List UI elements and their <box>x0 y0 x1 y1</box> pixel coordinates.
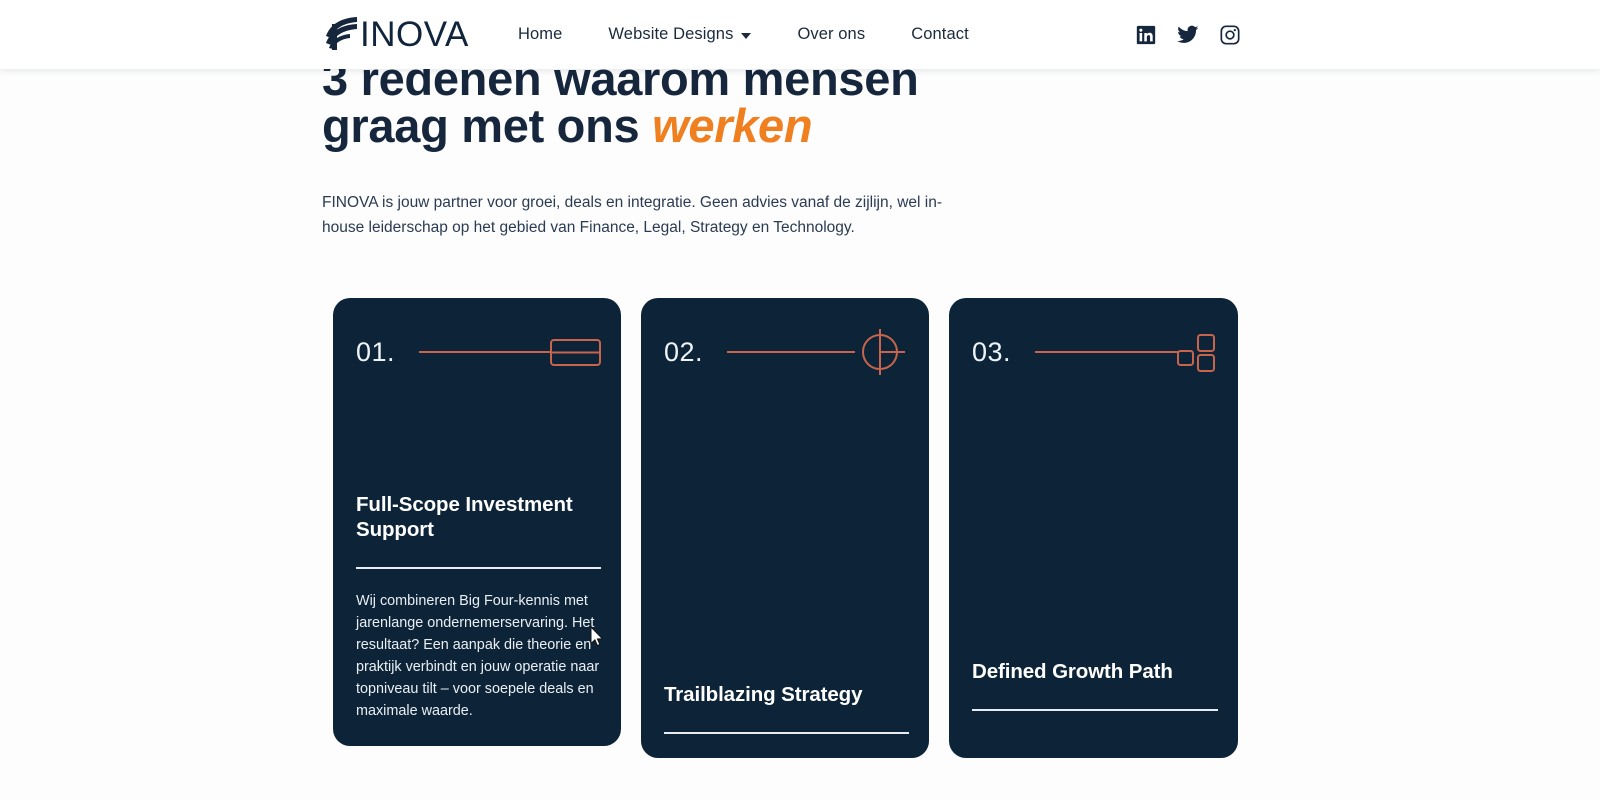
logo-text: INOVA <box>360 17 469 52</box>
card-content: Trailblazing Strategy <box>664 683 909 734</box>
nav-item-contact[interactable]: Contact <box>888 25 992 44</box>
nav-item-over-ons[interactable]: Over ons <box>774 25 888 44</box>
page-root: INOVA Home Website Designs Over ons Cont… <box>0 0 1600 800</box>
card-title: Trailblazing Strategy <box>664 683 909 708</box>
card-content: Full-Scope Investment Support Wij combin… <box>356 493 601 723</box>
nav-item-label: Over ons <box>797 25 865 44</box>
card-header: 02. <box>641 328 929 376</box>
card-header: 03. <box>949 328 1238 376</box>
card-divider <box>664 732 909 734</box>
card-number: 03. <box>972 339 1011 366</box>
page-title: 3 redenen waarom mensen graag met ons we… <box>322 55 1022 149</box>
feature-card-2[interactable]: 02. Trailblazing Strategy <box>641 298 929 758</box>
card-accent-rule <box>1035 351 1178 353</box>
logo[interactable]: INOVA <box>320 12 469 56</box>
twitter-icon[interactable] <box>1177 25 1199 45</box>
card-header: 01. <box>333 328 621 376</box>
card-accent-rule <box>727 351 855 353</box>
grid-squares-icon <box>1176 329 1220 375</box>
card-content: Defined Growth Path <box>972 660 1218 711</box>
social-links <box>1136 0 1240 69</box>
linkedin-icon[interactable] <box>1136 25 1156 45</box>
chevron-down-icon <box>741 33 751 39</box>
card-title: Full-Scope Investment Support <box>356 493 601 542</box>
intro-paragraph: FINOVA is jouw partner voor groei, deals… <box>322 190 954 240</box>
nav-item-website-designs[interactable]: Website Designs <box>585 25 774 44</box>
card-accent-rule <box>419 351 551 353</box>
main-nav: Home Website Designs Over ons Contact <box>518 0 992 69</box>
site-header: INOVA Home Website Designs Over ons Cont… <box>0 0 1600 69</box>
card-number: 01. <box>356 339 395 366</box>
card-number: 02. <box>664 339 703 366</box>
instagram-icon[interactable] <box>1220 25 1240 45</box>
nav-item-label: Contact <box>911 25 969 44</box>
headline-line-2: graag met ons <box>322 99 652 152</box>
card-divider <box>972 709 1218 711</box>
card-description: Wij combineren Big Four-kennis met jaren… <box>356 591 601 722</box>
nav-item-label: Website Designs <box>608 25 733 44</box>
headline-accent-word: werken <box>652 99 812 152</box>
card-divider <box>356 567 601 569</box>
feature-card-3[interactable]: 03. Defined Growth Path <box>949 298 1238 758</box>
finova-f-swoosh-icon <box>320 12 362 57</box>
feature-cards: 01. Full-Scope Investment Support Wij co… <box>333 298 1239 798</box>
card-layout-icon <box>549 332 603 372</box>
feature-card-1[interactable]: 01. Full-Scope Investment Support Wij co… <box>333 298 621 746</box>
nav-item-home[interactable]: Home <box>518 25 585 44</box>
card-title: Defined Growth Path <box>972 660 1218 685</box>
nav-item-label: Home <box>518 25 562 44</box>
crosshair-target-icon <box>853 323 911 381</box>
